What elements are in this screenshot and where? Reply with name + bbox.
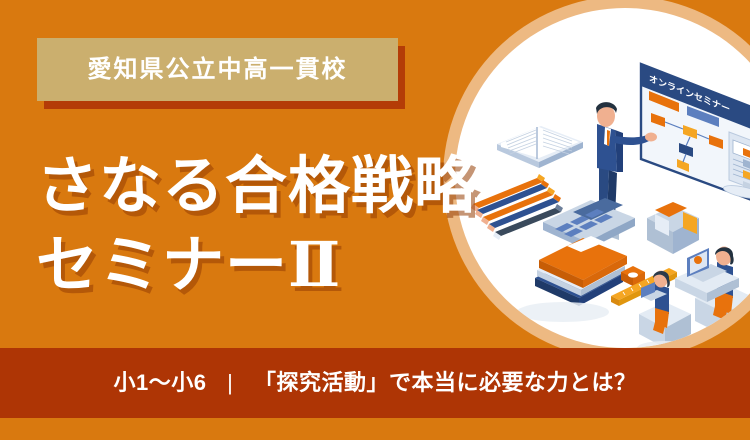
page-title: さなる合格戦略 セミナーⅡ [36,148,477,307]
subtitle-bar: 小1〜小6 | 「探究活動」で本当に必要な力とは？ [0,348,750,418]
seminar-banner: オンラインセミナー [0,0,750,440]
tagline-label: 「探究活動」で本当に必要な力とは？ [254,370,637,395]
category-badge-box: 愛知県公立中高一貫校 [37,38,398,101]
page-title-line2: セミナーⅡ [36,227,477,306]
category-badge-label: 愛知県公立中高一貫校 [88,58,348,82]
subtitle-separator: | [213,372,247,394]
category-badge: 愛知県公立中高一貫校 [37,38,398,101]
subtitle-text: 小1〜小6 | 「探究活動」で本当に必要な力とは？ [114,372,637,394]
grade-range-label: 小1〜小6 [114,370,207,395]
page-title-line1: さなる合格戦略 [36,153,477,221]
